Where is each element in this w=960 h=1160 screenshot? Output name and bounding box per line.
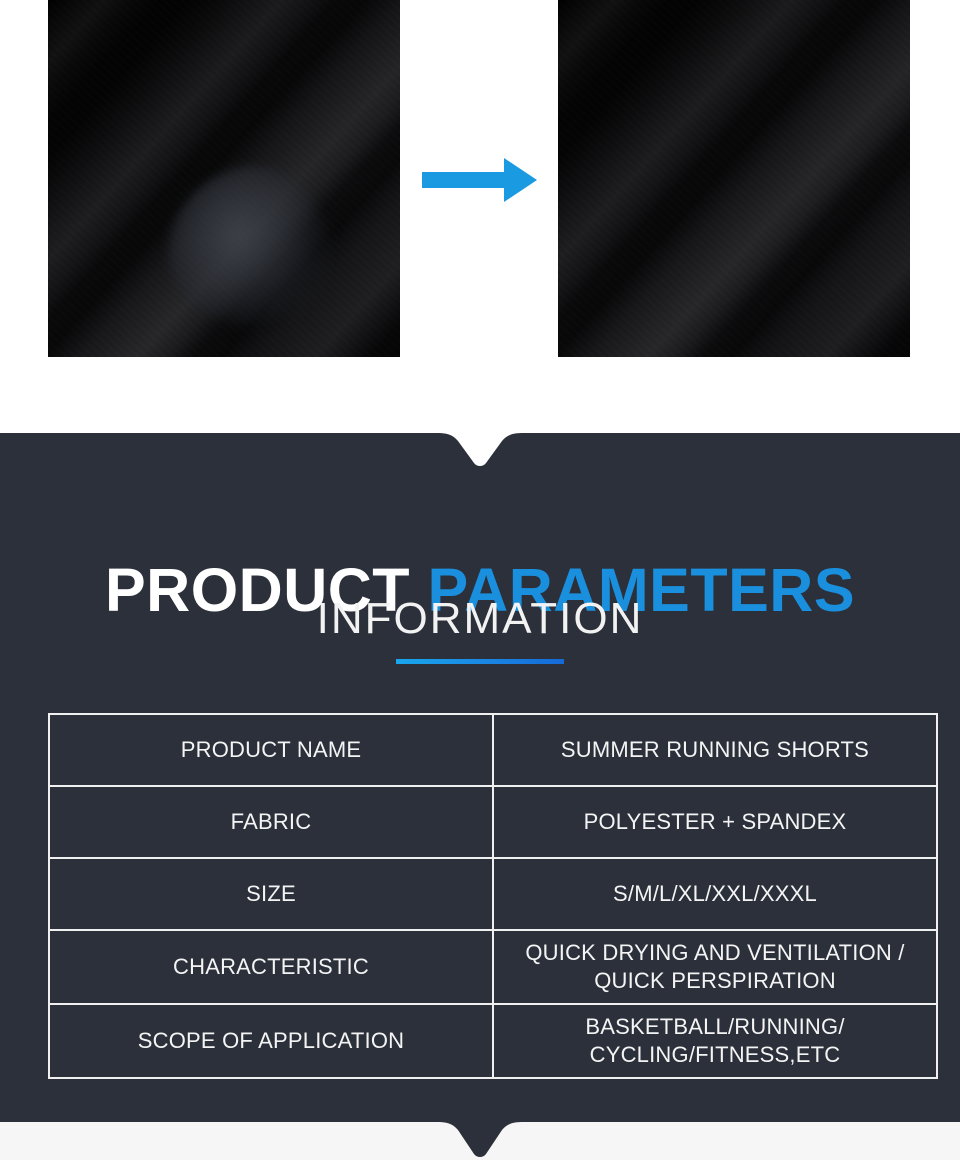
spec-value-line: BASKETBALL/RUNNING/: [500, 1013, 930, 1041]
table-row: SCOPE OF APPLICATION BASKETBALL/RUNNING/…: [49, 1004, 937, 1078]
spec-value: QUICK DRYING AND VENTILATION / QUICK PER…: [493, 930, 937, 1004]
spec-key: FABRIC: [49, 786, 493, 858]
spec-value: SUMMER RUNNING SHORTS: [493, 714, 937, 786]
table-row: SIZE S/M/L/XL/XXL/XXXL: [49, 858, 937, 930]
spec-key: CHARACTERISTIC: [49, 930, 493, 1004]
product-parameters-panel: PRODUCT PARAMETERS INFORMATION PRODUCT N…: [0, 433, 960, 1122]
after-product-image: [558, 0, 910, 357]
bottom-notch-decoration: [436, 1121, 524, 1159]
spec-value-line: POLYESTER + SPANDEX: [500, 808, 930, 836]
spec-value: BASKETBALL/RUNNING/ CYCLING/FITNESS,ETC: [493, 1004, 937, 1078]
fabric-swatch-dry-icon: [558, 0, 910, 357]
spec-key: SIZE: [49, 858, 493, 930]
table-row: PRODUCT NAME SUMMER RUNNING SHORTS: [49, 714, 937, 786]
spec-value-line: SUMMER RUNNING SHORTS: [500, 736, 930, 764]
spec-value-line: QUICK DRYING AND VENTILATION /: [500, 939, 930, 967]
product-specs-table: PRODUCT NAME SUMMER RUNNING SHORTS FABRI…: [48, 713, 938, 1079]
table-row: CHARACTERISTIC QUICK DRYING AND VENTILAT…: [49, 930, 937, 1004]
spec-value: POLYESTER + SPANDEX: [493, 786, 937, 858]
spec-value-line: CYCLING/FITNESS,ETC: [500, 1041, 930, 1069]
top-notch-decoration: [436, 432, 524, 468]
spec-key: PRODUCT NAME: [49, 714, 493, 786]
product-comparison-section: [0, 0, 960, 433]
table-row: FABRIC POLYESTER + SPANDEX: [49, 786, 937, 858]
title-underline-accent: [396, 659, 564, 664]
page-subtitle: INFORMATION: [0, 597, 960, 641]
spec-value-line: S/M/L/XL/XXL/XXXL: [500, 880, 930, 908]
spec-value-line: QUICK PERSPIRATION: [500, 967, 930, 995]
spec-key: SCOPE OF APPLICATION: [49, 1004, 493, 1078]
before-product-image: [48, 0, 400, 357]
right-arrow-icon: [420, 155, 540, 205]
spec-value: S/M/L/XL/XXL/XXXL: [493, 858, 937, 930]
